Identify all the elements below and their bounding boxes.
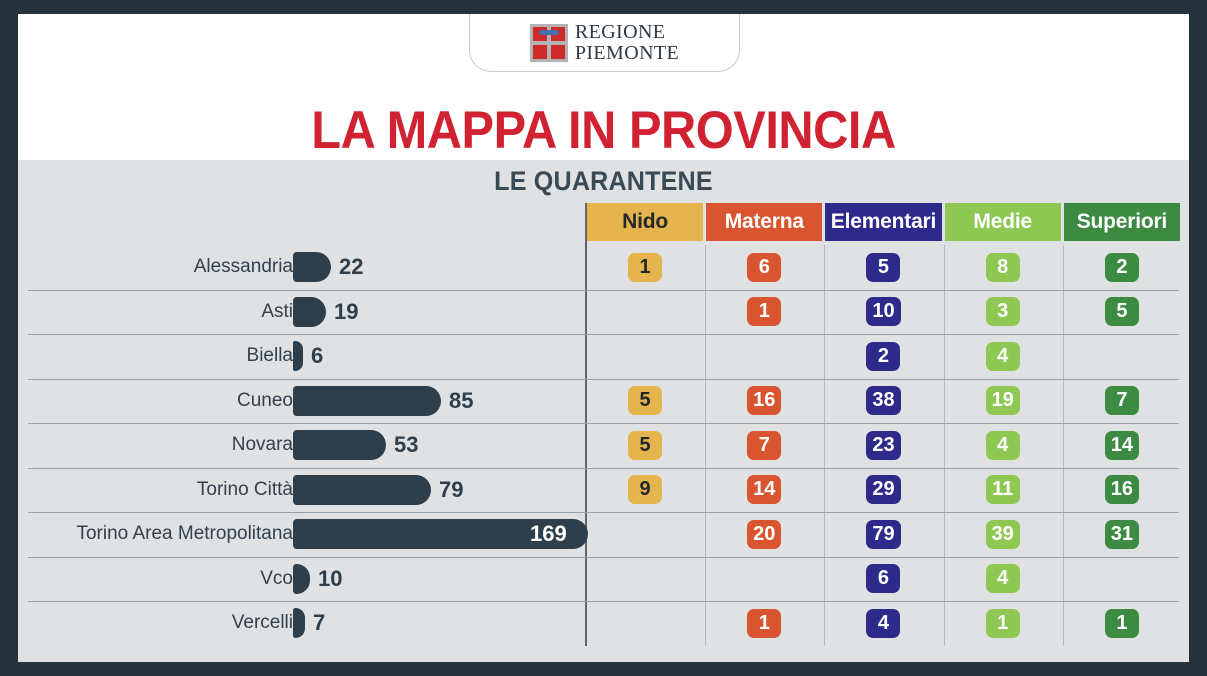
- badge-elementari: 4: [866, 609, 900, 638]
- cell-superiori: [1064, 334, 1180, 379]
- cell-nido: [587, 601, 703, 646]
- cell-superiori: 2: [1064, 245, 1180, 290]
- total-value: 85: [449, 388, 473, 414]
- badge-nido: 9: [628, 475, 662, 504]
- cell-materna: 6: [706, 245, 822, 290]
- row-label: Cuneo: [237, 390, 293, 412]
- cell-materna: 14: [706, 468, 822, 513]
- badge-medie: 1: [986, 609, 1020, 638]
- badge-medie: 39: [986, 520, 1020, 549]
- badge-elementari: 38: [866, 386, 900, 415]
- badge-superiori: 14: [1105, 431, 1139, 460]
- cell-superiori: 5: [1064, 290, 1180, 335]
- badge-superiori: 16: [1105, 475, 1139, 504]
- logo-text: REGIONE PIEMONTE: [575, 22, 679, 63]
- table-row: Biella624: [18, 334, 1189, 379]
- cell-nido: [587, 557, 703, 602]
- infographic-frame: REGIONE PIEMONTE LA MAPPA IN PROVINCIA L…: [0, 0, 1207, 676]
- cell-medie: 8: [945, 245, 1061, 290]
- row-label: Biella: [247, 345, 293, 367]
- cell-medie: 4: [945, 334, 1061, 379]
- total-value: 53: [394, 432, 418, 458]
- header-band: REGIONE PIEMONTE LA MAPPA IN PROVINCIA: [18, 14, 1189, 160]
- row-label: Vco: [260, 568, 293, 590]
- bar-area: Alessandria22: [18, 245, 585, 290]
- table-row: Cuneo8551638197: [18, 379, 1189, 424]
- bar-area: Torino Città79: [18, 468, 585, 513]
- row-label: Vercelli: [232, 612, 293, 634]
- badge-medie: 4: [986, 564, 1020, 593]
- badge-medie: 3: [986, 297, 1020, 326]
- logo-line-2: PIEMONTE: [575, 43, 679, 63]
- badge-elementari: 23: [866, 431, 900, 460]
- total-bar: [293, 564, 310, 594]
- table-row: Vercelli71411: [18, 601, 1189, 646]
- cell-superiori: 7: [1064, 379, 1180, 424]
- cell-elementari: 38: [825, 379, 941, 424]
- bar-area: Vco10: [18, 557, 585, 602]
- cell-nido: [587, 290, 703, 335]
- badge-nido: 5: [628, 386, 662, 415]
- page-title: LA MAPPA IN PROVINCIA: [65, 100, 1142, 160]
- badge-materna: 1: [747, 297, 781, 326]
- badge-medie: 8: [986, 253, 1020, 282]
- total-value: 19: [334, 299, 358, 325]
- table-row: Vco1064: [18, 557, 1189, 602]
- cell-medie: 19: [945, 379, 1061, 424]
- badge-superiori: 7: [1105, 386, 1139, 415]
- total-value: 22: [339, 254, 363, 280]
- badge-nido: 5: [628, 431, 662, 460]
- cell-elementari: 2: [825, 334, 941, 379]
- row-label: Novara: [232, 434, 293, 456]
- table-row: Asti1911035: [18, 290, 1189, 335]
- column-header-nido: Nido: [587, 203, 703, 241]
- cell-materna: 1: [706, 290, 822, 335]
- cell-materna: 1: [706, 601, 822, 646]
- bar-area: Vercelli7: [18, 601, 585, 646]
- cell-elementari: 6: [825, 557, 941, 602]
- cell-superiori: 31: [1064, 512, 1180, 557]
- cell-medie: 11: [945, 468, 1061, 513]
- cell-superiori: 1: [1064, 601, 1180, 646]
- total-value: 10: [318, 566, 342, 592]
- cell-elementari: 5: [825, 245, 941, 290]
- cell-superiori: 14: [1064, 423, 1180, 468]
- chart-panel: LE QUARANTENE NidoMaternaElementariMedie…: [18, 160, 1189, 662]
- badge-superiori: 2: [1105, 253, 1139, 282]
- badge-elementari: 29: [866, 475, 900, 504]
- logo-line-1: REGIONE: [575, 22, 679, 42]
- total-bar: [293, 608, 305, 638]
- badge-materna: 7: [747, 431, 781, 460]
- cell-elementari: 29: [825, 468, 941, 513]
- badge-materna: 6: [747, 253, 781, 282]
- total-bar: [293, 475, 431, 505]
- cell-elementari: 10: [825, 290, 941, 335]
- row-label: Alessandria: [194, 256, 293, 278]
- badge-superiori: 5: [1105, 297, 1139, 326]
- cell-medie: 1: [945, 601, 1061, 646]
- bar-area: Novara53: [18, 423, 585, 468]
- quarantine-table: NidoMaternaElementariMedieSuperioriAless…: [18, 160, 1189, 662]
- cell-medie: 4: [945, 557, 1061, 602]
- badge-materna: 1: [747, 609, 781, 638]
- total-bar: [293, 341, 303, 371]
- total-bar: [293, 430, 386, 460]
- bar-area: Cuneo85: [18, 379, 585, 424]
- table-row: Novara535723414: [18, 423, 1189, 468]
- badge-materna: 16: [747, 386, 781, 415]
- cell-materna: 20: [706, 512, 822, 557]
- column-header-elementari: Elementari: [825, 203, 941, 241]
- cell-elementari: 23: [825, 423, 941, 468]
- cell-elementari: 79: [825, 512, 941, 557]
- cell-materna: [706, 557, 822, 602]
- badge-medie: 4: [986, 342, 1020, 371]
- row-label: Torino Città: [197, 479, 293, 501]
- cell-materna: [706, 334, 822, 379]
- table-row: Alessandria2216582: [18, 245, 1189, 290]
- cell-nido: 5: [587, 423, 703, 468]
- cell-superiori: 16: [1064, 468, 1180, 513]
- regione-piemonte-cross-icon: [530, 24, 568, 62]
- badge-medie: 4: [986, 431, 1020, 460]
- cell-nido: [587, 512, 703, 557]
- column-header-materna: Materna: [706, 203, 822, 241]
- total-bar: [293, 252, 331, 282]
- cell-superiori: [1064, 557, 1180, 602]
- total-bar: [293, 386, 441, 416]
- regione-piemonte-logo-plate: REGIONE PIEMONTE: [469, 14, 740, 72]
- badge-materna: 20: [747, 520, 781, 549]
- total-value: 169: [530, 521, 567, 547]
- cell-medie: 4: [945, 423, 1061, 468]
- badge-elementari: 6: [866, 564, 900, 593]
- row-label: Asti: [261, 301, 293, 323]
- total-bar: [293, 297, 326, 327]
- badge-medie: 19: [986, 386, 1020, 415]
- badge-medie: 11: [986, 475, 1020, 504]
- badge-materna: 14: [747, 475, 781, 504]
- badge-nido: 1: [628, 253, 662, 282]
- total-value: 7: [313, 610, 325, 636]
- total-value: 79: [439, 477, 463, 503]
- cell-medie: 3: [945, 290, 1061, 335]
- cell-nido: 5: [587, 379, 703, 424]
- cell-materna: 7: [706, 423, 822, 468]
- bar-area: Asti19: [18, 290, 585, 335]
- total-value: 6: [311, 343, 323, 369]
- row-label: Torino Area Metropolitana: [76, 523, 293, 545]
- logo: REGIONE PIEMONTE: [530, 22, 679, 63]
- badge-elementari: 79: [866, 520, 900, 549]
- cell-elementari: 4: [825, 601, 941, 646]
- cell-nido: 1: [587, 245, 703, 290]
- badge-superiori: 1: [1105, 609, 1139, 638]
- column-header-medie: Medie: [945, 203, 1061, 241]
- bar-area: Biella6: [18, 334, 585, 379]
- cell-nido: [587, 334, 703, 379]
- table-row: Torino Città79914291116: [18, 468, 1189, 513]
- cell-nido: 9: [587, 468, 703, 513]
- bar-area: Torino Area Metropolitana169: [18, 512, 585, 557]
- badge-superiori: 31: [1105, 520, 1139, 549]
- badge-elementari: 5: [866, 253, 900, 282]
- badge-elementari: 10: [866, 297, 900, 326]
- table-row: Torino Area Metropolitana16920793931: [18, 512, 1189, 557]
- badge-elementari: 2: [866, 342, 900, 371]
- cell-medie: 39: [945, 512, 1061, 557]
- cell-materna: 16: [706, 379, 822, 424]
- column-header-superiori: Superiori: [1064, 203, 1180, 241]
